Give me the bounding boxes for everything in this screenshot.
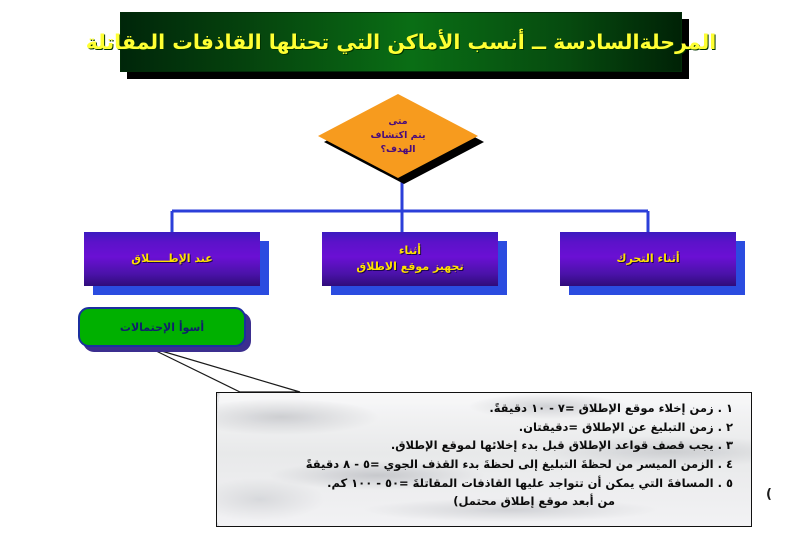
slide-canvas: المرحلةالسادسة ــ أنسب الأماكن التي تحتل… [0, 0, 799, 559]
diamond-label: متى يتم اكتشاف الهدف؟ [318, 94, 478, 178]
branch-label-line: عند الإطـــــلاق [131, 251, 213, 267]
branch-label-line: أثناء [356, 243, 463, 259]
branch-box-label: أثناء التحرك [616, 251, 679, 267]
note-panel: ١ . زمن إخلاء موقع الإطلاق =٧ - ١٠ دقيقة… [216, 392, 752, 527]
page-title: المرحلةالسادسة ــ أنسب الأماكن التي تحتل… [86, 30, 717, 54]
branch-box-face: عند الإطـــــلاق [84, 232, 260, 286]
branch-label-line: تجهيز موقع الاطلاق [356, 259, 463, 275]
worst-case-label: أسوأ الإحتمالات [120, 321, 204, 334]
diamond-line-1: متى [388, 115, 407, 129]
branch-box-label: عند الإطـــــلاق [131, 251, 213, 267]
branch-box-launch[interactable]: عند الإطـــــلاق [84, 232, 260, 286]
branch-label-line: أثناء التحرك [616, 251, 679, 267]
note-item: ٥ . المسافةَ التي يمكن أن تتواجد عليها ا… [223, 474, 733, 493]
decision-diamond: متى يتم اكتشاف الهدف؟ [318, 94, 486, 184]
note-item: ٣ . يجب قصف قواعد الإطلاق قبل بدء إخلائه… [223, 436, 733, 455]
stray-parenthesis: ) [766, 487, 772, 502]
branch-box-moving[interactable]: أثناء التحرك [560, 232, 736, 286]
note-continuation: من أبعد موقع إطلاق محتمل) [223, 492, 733, 511]
branch-box-label: أثناء تجهيز موقع الاطلاق [356, 243, 463, 275]
note-item: ١ . زمن إخلاء موقع الإطلاق =٧ - ١٠ دقيقة… [223, 399, 733, 418]
worst-case-face: أسوأ الإحتمالات [78, 307, 246, 347]
title-banner: المرحلةالسادسة ــ أنسب الأماكن التي تحتل… [120, 12, 682, 72]
worst-case-box[interactable]: أسوأ الإحتمالات [78, 307, 246, 347]
branch-box-prepare[interactable]: أثناء تجهيز موقع الاطلاق [322, 232, 498, 286]
diamond-line-2: يتم اكتشاف [370, 129, 425, 143]
note-item: ٤ . الزمن الميسر من لحظةَ التبليغ إلى لح… [223, 455, 733, 474]
note-item: ٢ . زمن التبليغ عن الإطلاق =دقيقتان. [223, 418, 733, 437]
note-list: ١ . زمن إخلاء موقع الإطلاق =٧ - ١٠ دقيقة… [217, 399, 743, 511]
branch-box-face: أثناء التحرك [560, 232, 736, 286]
branch-box-face: أثناء تجهيز موقع الاطلاق [322, 232, 498, 286]
diamond-line-3: الهدف؟ [380, 143, 415, 157]
